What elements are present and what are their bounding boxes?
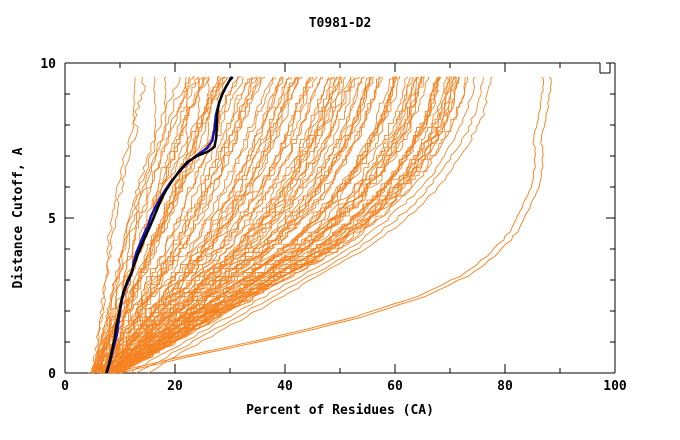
y-axis-label: Distance Cutoff, A	[11, 147, 26, 288]
ensemble-curves	[89, 77, 552, 373]
x-tick-labels: 0 20 40 60 80 100	[61, 379, 627, 394]
chart-figure: T0981-D2 Distance Cutoff, A Percent of R…	[0, 0, 680, 440]
y-tick-label: 10	[40, 57, 56, 72]
x-tick-label: 0	[61, 379, 69, 394]
y-tick-label: 0	[48, 367, 56, 382]
y-tick-label: 5	[48, 212, 56, 227]
x-tick-label: 80	[497, 379, 513, 394]
plot-area: Distance Cutoff, A Percent of Residues (…	[0, 0, 680, 440]
x-tick-label: 100	[603, 379, 627, 394]
x-tick-label: 60	[387, 379, 403, 394]
x-tick-label: 20	[167, 379, 183, 394]
x-tick-label: 40	[277, 379, 293, 394]
y-tick-labels: 0 5 10	[40, 57, 56, 382]
x-axis-label: Percent of Residues (CA)	[246, 403, 434, 418]
